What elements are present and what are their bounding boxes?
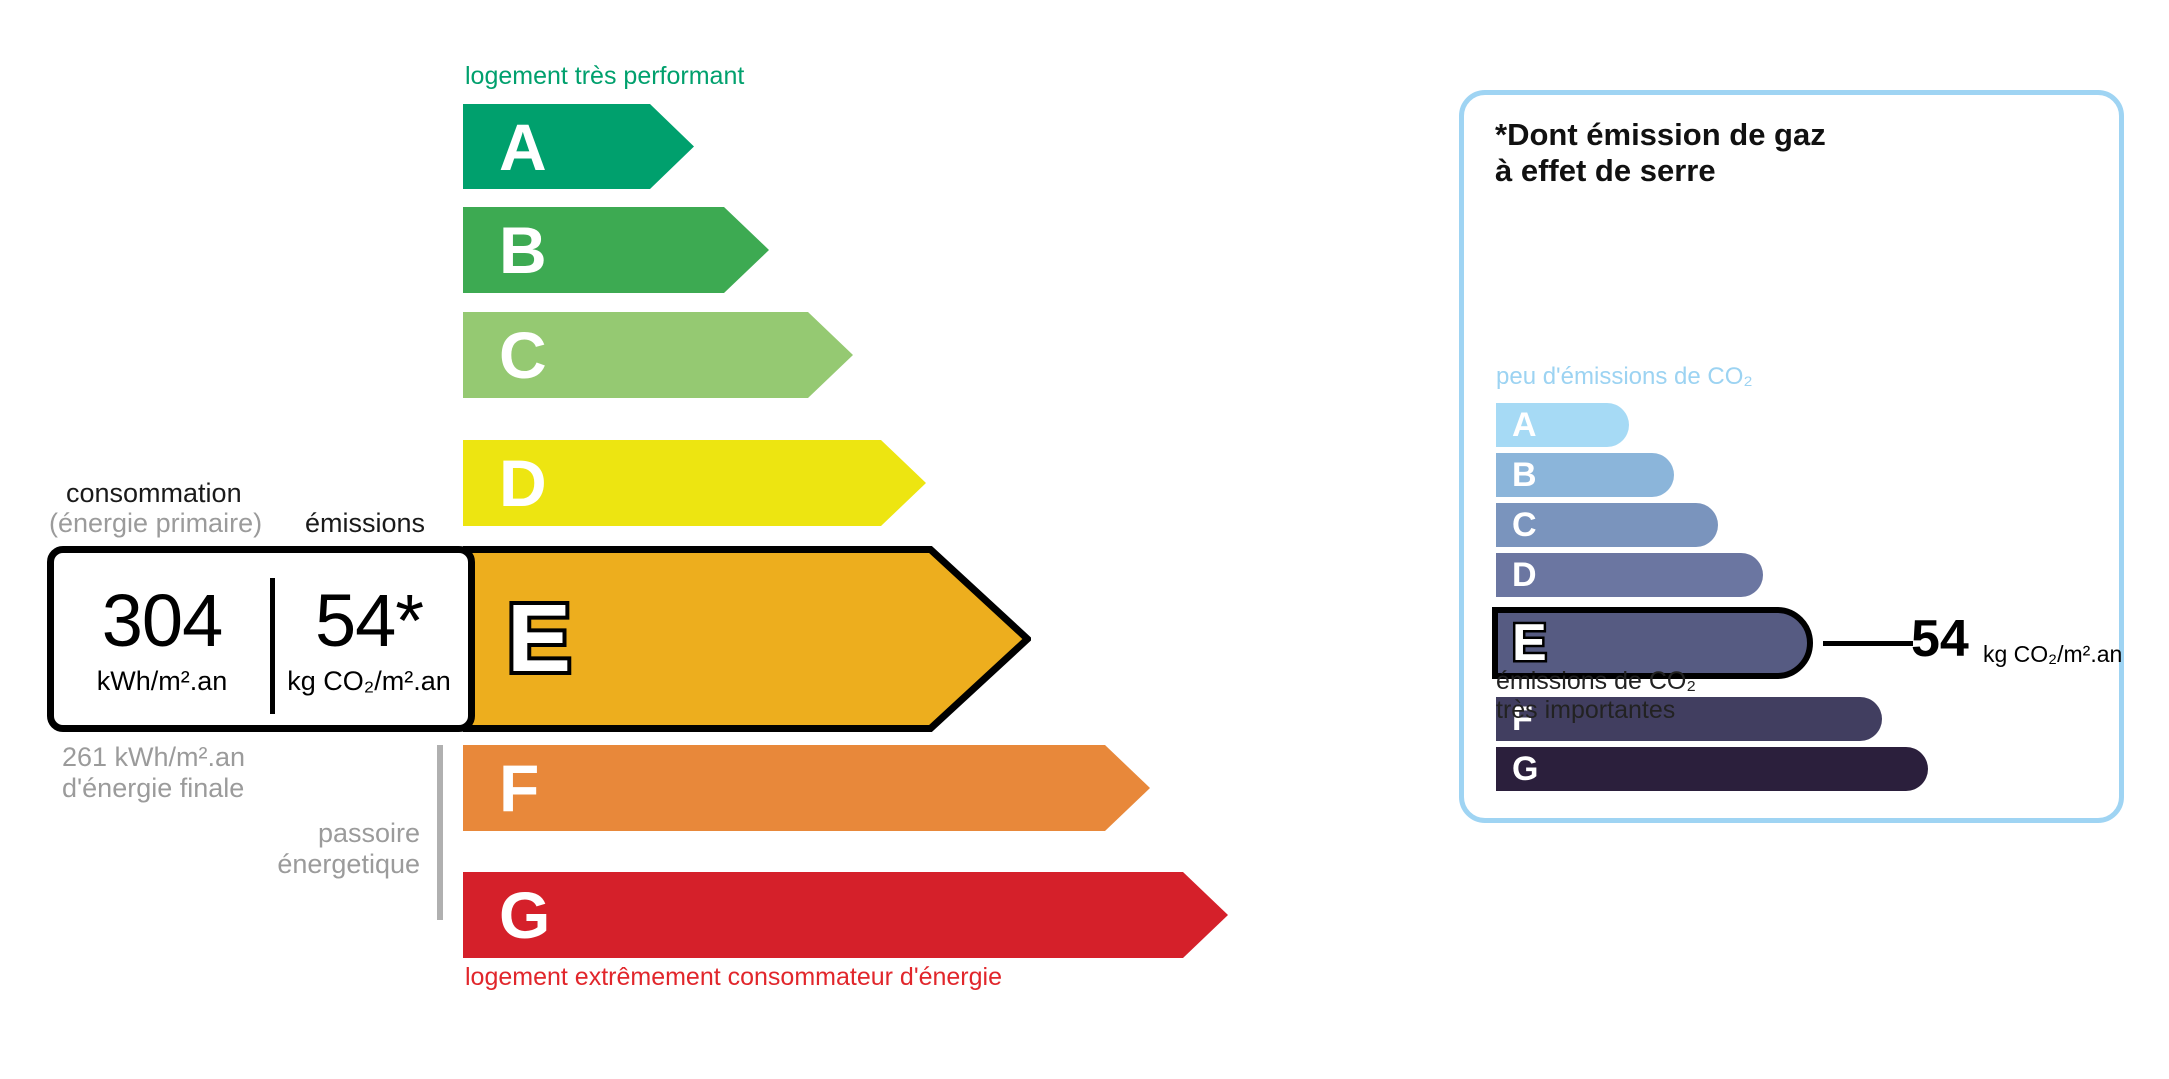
band-arrow-shape-b — [463, 207, 769, 293]
emissions-value: 54* — [315, 584, 423, 658]
band-arrow-shape-g — [463, 872, 1228, 958]
consumption-unit: kWh/m².an — [97, 668, 228, 695]
consumption-sublabel: (énergie primaire) — [49, 508, 262, 540]
emissions-value-cell: 54* kg CO₂/m².an — [270, 553, 468, 725]
scale-caption-top: logement très performant — [465, 62, 744, 91]
ghg-bar-a: A — [1496, 403, 1629, 447]
scale-caption-bottom: logement extrêmement consommateur d'éner… — [465, 963, 1002, 992]
energy-performance-scale: logement très performant ABCDEFG logemen… — [0, 0, 1400, 1079]
band-arrow-shape-c — [463, 312, 853, 398]
dpe-value-box: 304 kWh/m².an 54* kg CO₂/m².an — [47, 546, 475, 732]
passoire-line1: passoire — [180, 818, 420, 850]
consumption-label: consommation — [66, 478, 242, 509]
ghg-bar-letter-b: B — [1512, 458, 1537, 492]
energy-band-b: B — [463, 207, 769, 293]
ghg-value: 54 — [1911, 613, 1969, 665]
energy-band-a: A — [463, 104, 694, 189]
consumption-value-cell: 304 kWh/m².an — [54, 553, 270, 725]
energy-band-g: G — [463, 872, 1228, 958]
ghg-bar-b: B — [1496, 453, 1674, 497]
ghg-bar-letter-d: D — [1512, 558, 1537, 592]
final-energy-line2: d'énergie finale — [62, 773, 244, 805]
energy-band-c: C — [463, 312, 853, 398]
ghg-bar-c: C — [1496, 503, 1718, 547]
ghg-bar-letter-e: E — [1512, 617, 1547, 669]
ghg-value-unit: kg CO₂/m².an — [1983, 643, 2122, 666]
energy-band-f: F — [463, 745, 1150, 831]
ghg-emissions-panel: *Dont émission de gaz à effet de serre p… — [1459, 90, 2124, 823]
ghg-bar-letter-c: C — [1512, 508, 1537, 542]
energy-band-d: D — [463, 440, 926, 526]
passoire-vertical-rule — [437, 745, 443, 920]
final-energy-line1: 261 kWh/m².an — [62, 742, 245, 774]
band-arrow-shape-f — [463, 745, 1150, 831]
ghg-caption-top: peu d'émissions de CO₂ — [1496, 363, 1753, 391]
ghg-panel-title: *Dont émission de gaz à effet de serre — [1495, 117, 1826, 190]
energy-band-e: E — [463, 546, 1031, 732]
passoire-line2: énergetique — [180, 849, 420, 881]
ghg-value-leader-line — [1823, 641, 1913, 646]
ghg-bar-letter-a: A — [1512, 408, 1537, 442]
emissions-unit: kg CO₂/m².an — [287, 668, 451, 695]
ghg-caption-bottom: émissions de CO₂ très importantes — [1496, 667, 1696, 725]
ghg-bar-g: G — [1496, 747, 1928, 791]
emissions-label: émissions — [305, 508, 425, 539]
ghg-bar-d: D — [1496, 553, 1763, 597]
consumption-value: 304 — [102, 584, 222, 658]
band-arrow-shape-a — [463, 104, 694, 189]
band-arrow-shape-d — [463, 440, 926, 526]
band-arrow-shape-e — [463, 546, 1031, 732]
ghg-bar-letter-g: G — [1512, 752, 1538, 786]
